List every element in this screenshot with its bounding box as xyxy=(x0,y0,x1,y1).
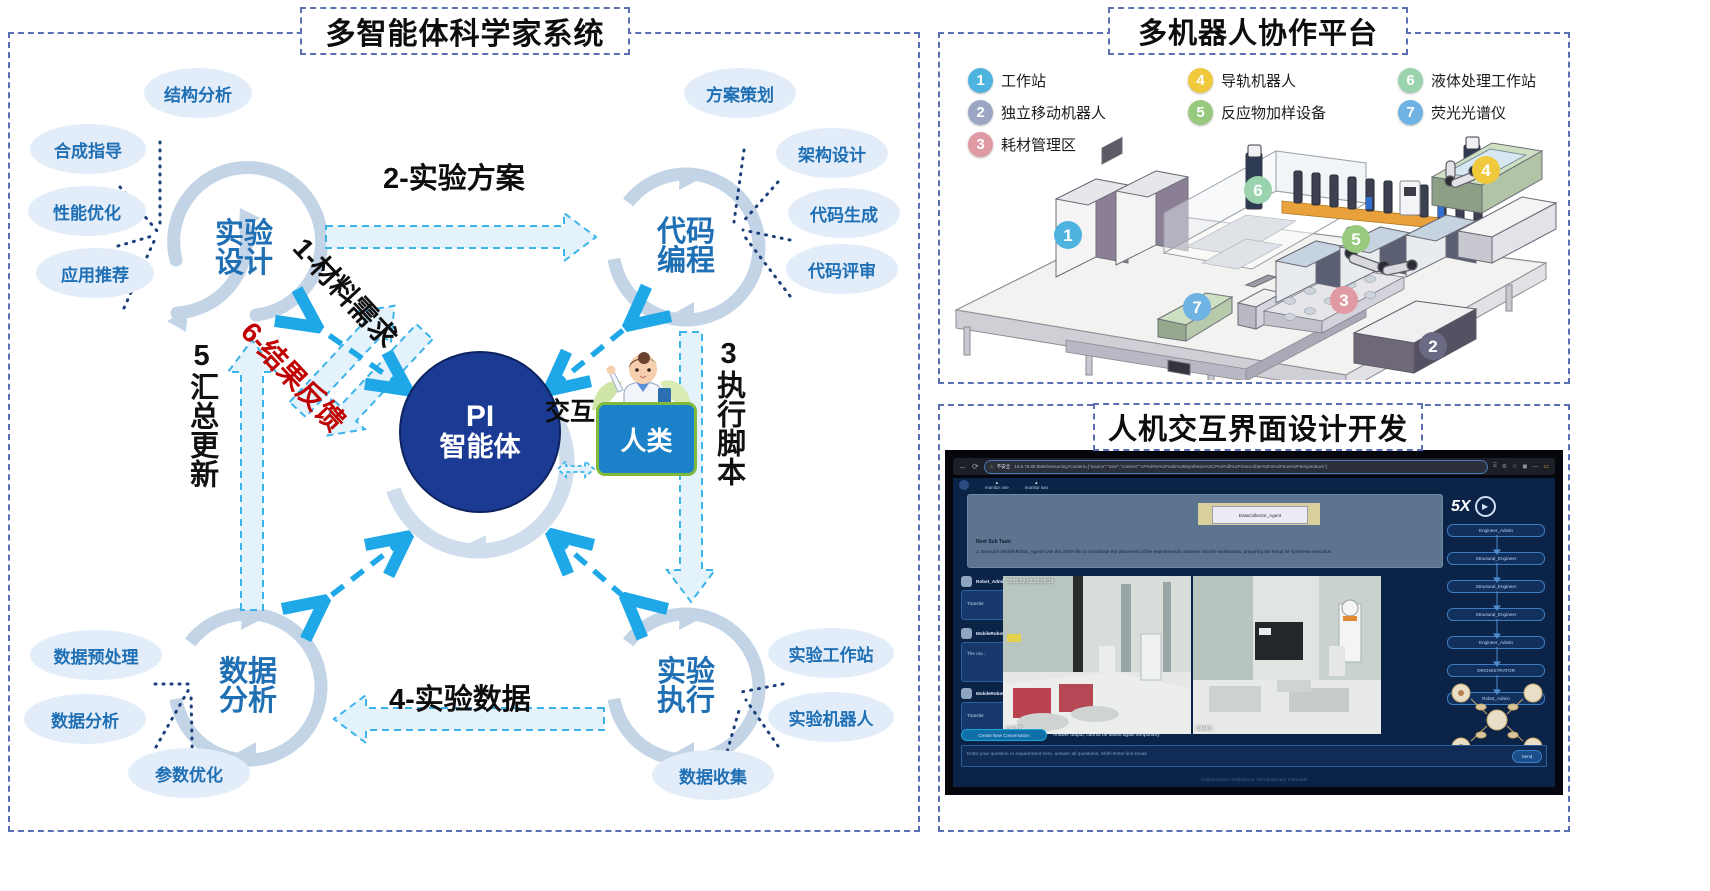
chip-code-review[interactable]: 代码评审 xyxy=(786,244,898,294)
settings-icon[interactable]: ⚙ xyxy=(1502,463,1507,470)
legend-badge-4: 4 xyxy=(1188,68,1213,93)
message-row-3[interactable]: MobileRobot xyxy=(961,688,1004,699)
chip-label: 数据分析 xyxy=(51,707,119,732)
avatar xyxy=(961,628,972,639)
node-design-line2: 设计 xyxy=(215,249,273,278)
tab-label: monitor two xyxy=(1025,485,1048,490)
interaction-label: 交互 xyxy=(545,392,595,428)
window-icon[interactable]: ▭ xyxy=(1543,463,1549,470)
node-analyze-line1: 数据 xyxy=(219,658,277,687)
pi-agent-line1: PI xyxy=(466,401,494,433)
legend-label-3: 耗材管理区 xyxy=(1001,134,1076,155)
chip-label: 方案策划 xyxy=(706,81,774,106)
node-coding[interactable]: 代码 编程 xyxy=(614,175,758,319)
ui-design-title: 人机交互界面设计开发 xyxy=(1093,403,1423,451)
speed-badge[interactable]: 5X ▶ xyxy=(1451,496,1496,517)
chip-label: 合成指导 xyxy=(54,137,122,162)
address-bar[interactable]: ⚠ 不安全 10.6.76.86:5555/reasoning?content=… xyxy=(984,460,1488,474)
extensions-icon[interactable]: ⌸ xyxy=(1493,463,1497,470)
profile-icon[interactable]: ◼ xyxy=(1522,463,1527,470)
node-execute[interactable]: 实验 执行 xyxy=(614,615,758,759)
chip-label: 参数优化 xyxy=(155,761,223,786)
legend-item-2[interactable]: 2 独立移动机器人 xyxy=(968,100,1106,125)
warning-icon: ⚠ xyxy=(990,464,994,470)
chip-performance-optimization[interactable]: 性能优化 xyxy=(28,186,146,236)
chain-item-0[interactable]: Engineer_Admin xyxy=(1447,524,1545,537)
conversation-status-row: Create New Conversation Answer output, c… xyxy=(961,729,1160,741)
system-panel-title: 多智能体科学家系统 xyxy=(300,7,630,55)
bookmark-icon[interactable]: ☆ xyxy=(1512,463,1517,470)
browser-toolbar[interactable]: ← ⟳ ⚠ 不安全 10.6.76.86:5555/reasoning?cont… xyxy=(953,458,1555,475)
chip-architecture-design[interactable]: 架构设计 xyxy=(776,128,888,178)
legend-badge-2: 2 xyxy=(968,100,993,125)
legend-item-4[interactable]: 4 导轨机器人 xyxy=(1188,68,1296,93)
camera-image-1 xyxy=(1003,576,1191,734)
chip-label: 实验机器人 xyxy=(789,705,874,730)
chip-label: 结构分析 xyxy=(164,81,232,106)
camera-label-2: CAM01 xyxy=(1196,726,1213,732)
node-execute-line2: 执行 xyxy=(657,687,715,716)
chip-structure-analysis[interactable]: 结构分析 xyxy=(144,68,252,118)
svg-text:5: 5 xyxy=(1351,230,1360,249)
chip-data-preprocessing[interactable]: 数据预处理 xyxy=(30,630,162,680)
chip-label: 应用推荐 xyxy=(61,261,129,286)
avatar xyxy=(961,688,972,699)
flow-label-3: 3执行脚本 xyxy=(713,338,743,486)
speed-badge-label: 5X xyxy=(1451,498,1471,516)
legend-badge-1: 1 xyxy=(968,68,993,93)
legend-item-6[interactable]: 6 液体处理工作站 xyxy=(1398,68,1536,93)
message-agent-3: MobileRobot xyxy=(976,691,1004,696)
chip-label: 数据预处理 xyxy=(54,643,139,668)
chip-label: 架构设计 xyxy=(798,141,866,166)
chip-application-recommendation[interactable]: 应用推荐 xyxy=(36,248,154,298)
svg-text:7: 7 xyxy=(1192,298,1201,317)
chain-item-4[interactable]: Engineer_Admin xyxy=(1447,636,1545,649)
chip-data-collection[interactable]: 数据收集 xyxy=(652,750,774,800)
play-icon[interactable]: ▶ xyxy=(1475,496,1496,517)
chip-label: 数据收集 xyxy=(679,763,747,788)
node-execute-line1: 实验 xyxy=(657,658,715,687)
human-node[interactable]: 人类 xyxy=(596,402,697,476)
robot-platform-title: 多机器人协作平台 xyxy=(1108,7,1408,55)
message-agent-2: MobileRobot xyxy=(976,631,1004,636)
send-button[interactable]: Send xyxy=(1512,750,1542,763)
chip-label: 性能优化 xyxy=(53,199,121,224)
message-text-1: Transfer xyxy=(967,601,984,606)
pi-agent-circle[interactable]: PI 智能体 xyxy=(399,351,561,513)
node-coding-line1: 代码 xyxy=(657,218,715,247)
next-sub-task-text: 1. Executor (MobileRobot_Agent) Use the … xyxy=(976,549,1436,554)
message-row-1[interactable]: Robot_Admin xyxy=(961,576,1006,587)
message-text-2: The mo... xyxy=(967,651,986,656)
monitor-tabs[interactable]: ▲monitor one ▲monitor two xyxy=(959,480,1048,490)
camera-feed-2[interactable]: CAM01 xyxy=(1193,576,1381,734)
tab-monitor-one[interactable]: ▲monitor one xyxy=(985,480,1009,490)
web-app-body: ▲monitor one ▲monitor two DataCollector_… xyxy=(953,478,1555,787)
legend-label-5: 反应物加样设备 xyxy=(1221,102,1326,123)
legend-label-6: 液体处理工作站 xyxy=(1431,70,1536,91)
legend-badge-7: 7 xyxy=(1398,100,1423,125)
url-text: 10.6.76.86:5555/reasoning?content={"sour… xyxy=(1014,464,1327,469)
browser-screenshot[interactable]: ← ⟳ ⚠ 不安全 10.6.76.86:5555/reasoning?cont… xyxy=(945,450,1563,795)
chip-parameter-optimization[interactable]: 参数优化 xyxy=(128,748,250,798)
message-row-2[interactable]: MobileRobot xyxy=(961,628,1004,639)
node-analyze-line2: 分析 xyxy=(219,687,277,716)
security-label: 不安全 xyxy=(997,464,1011,470)
svg-text:4: 4 xyxy=(1481,161,1491,180)
pi-agent-node[interactable]: PI 智能体 xyxy=(383,335,573,525)
chip-data-analysis[interactable]: 数据分析 xyxy=(24,694,146,744)
message-agent-1: Robot_Admin xyxy=(976,579,1006,584)
reload-icon[interactable]: ⟳ xyxy=(972,462,979,471)
legend-badge-5: 5 xyxy=(1188,100,1213,125)
svg-text:2: 2 xyxy=(1428,337,1437,356)
chip-label: 代码生成 xyxy=(810,201,878,226)
chain-item-5[interactable]: ORCHESTRATOR xyxy=(1447,664,1545,677)
next-sub-task-title: Next Sub Task: xyxy=(976,539,1012,545)
legend-item-3[interactable]: 3 耗材管理区 xyxy=(968,132,1076,157)
flow-label-2: 2-实验方案 xyxy=(383,155,525,197)
avatar xyxy=(961,576,972,587)
chat-input-placeholder: Enter your question or requirement here,… xyxy=(967,752,1147,757)
chain-item-2[interactable]: Structural_Engineer xyxy=(1447,580,1545,593)
flow-label-5: 5汇总更新 xyxy=(186,340,216,488)
svg-text:1: 1 xyxy=(1063,226,1072,245)
camera-feed-1[interactable]: 2025-02-03 22:05:18 CAM00 xyxy=(1003,576,1191,734)
create-new-conversation-button[interactable]: Create New Conversation xyxy=(961,729,1047,741)
back-icon[interactable]: ← xyxy=(959,462,967,471)
tab-label: monitor one xyxy=(985,485,1009,490)
node-analyze[interactable]: 数据 分析 xyxy=(176,615,320,759)
human-node-label: 人类 xyxy=(620,421,672,458)
tab-monitor-two[interactable]: ▲monitor two xyxy=(1025,480,1048,490)
legend-item-1[interactable]: 1 工作站 xyxy=(968,68,1046,93)
svg-text:3: 3 xyxy=(1339,291,1348,310)
flow-label-4: 4-实验数据 xyxy=(389,676,531,718)
chip-code-generation[interactable]: 代码生成 xyxy=(788,188,900,238)
camera-timestamp: 2025-02-03 22:05:18 xyxy=(1007,579,1053,585)
node-coding-line2: 编程 xyxy=(657,247,715,276)
legend-badge-6: 6 xyxy=(1398,68,1423,93)
legend-item-7[interactable]: 7 荧光光谱仪 xyxy=(1398,100,1506,125)
node-design-line1: 实验 xyxy=(215,220,273,249)
chip-experiment-robot[interactable]: 实验机器人 xyxy=(768,692,894,742)
legend-item-5[interactable]: 5 反应物加样设备 xyxy=(1188,100,1326,125)
chip-experiment-workstation[interactable]: 实验工作站 xyxy=(768,628,894,678)
status-text: Answer output, cannot be asked again tem… xyxy=(1053,733,1160,738)
pi-agent-line2: 智能体 xyxy=(440,432,521,463)
agent-node-highlight: DataCollector_Agent xyxy=(1198,503,1320,525)
legend-label-1: 工作站 xyxy=(1001,70,1046,91)
message-text-3: Transfer xyxy=(967,713,984,718)
chip-plan-design[interactable]: 方案策划 xyxy=(684,68,796,118)
agent-node-chip[interactable]: DataCollector_Agent xyxy=(1212,506,1308,524)
legend-label-2: 独立移动机器人 xyxy=(1001,102,1106,123)
legend-label-7: 荧光光谱仪 xyxy=(1431,102,1506,123)
legend-badge-3: 3 xyxy=(968,132,993,157)
chip-label: 实验工作站 xyxy=(789,641,874,666)
minimize-icon[interactable]: — xyxy=(1532,464,1538,470)
chat-input[interactable]: Enter your question or requirement here,… xyxy=(961,745,1547,767)
app-logo-icon xyxy=(959,480,969,490)
chip-label: 代码评审 xyxy=(808,257,876,282)
chip-synthesis-guidance[interactable]: 合成指导 xyxy=(30,124,146,174)
agent-graph-card: DataCollector_Agent Next Sub Task: 1. Ex… xyxy=(967,494,1443,568)
lab-platform-illustration: 1 2 3 4 5 6 7 xyxy=(946,135,1564,380)
chain-item-3[interactable]: Structural_Engineer xyxy=(1447,608,1545,621)
legend-label-4: 导轨机器人 xyxy=(1221,70,1296,91)
svg-text:6: 6 xyxy=(1253,181,1262,200)
chain-item-1[interactable]: Structural_Engineer xyxy=(1447,552,1545,565)
camera-image-2 xyxy=(1193,576,1381,734)
app-footer-text: Collaborative Intelligence, Revolutionar… xyxy=(953,778,1555,783)
